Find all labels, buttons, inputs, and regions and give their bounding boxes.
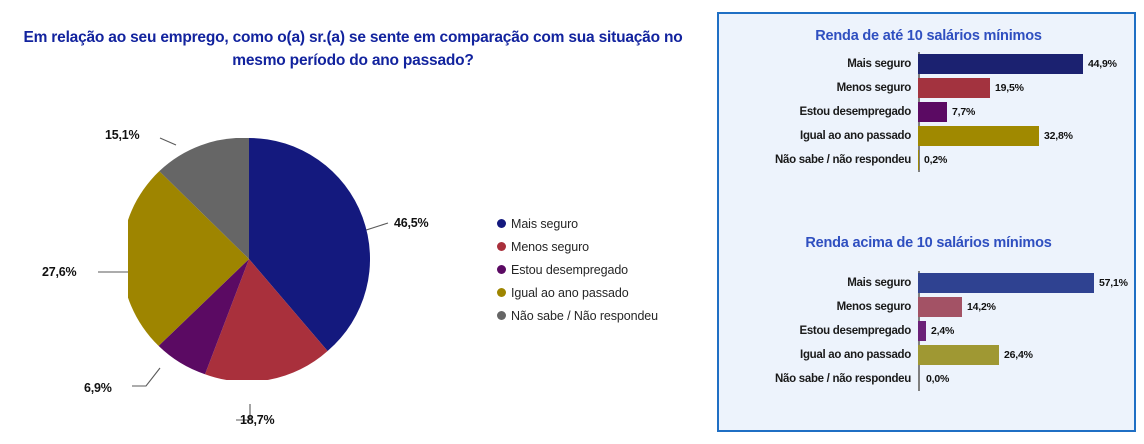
bar-value-label: 14,2% xyxy=(967,301,996,313)
bar-area: 57,1% xyxy=(918,271,1138,295)
legend-item: Estou desempregado xyxy=(497,258,658,281)
bar-category-label: Menos seguro xyxy=(719,301,918,313)
bar-chart-acima-10-salarios: Renda acima de 10 salários mínimos Mais … xyxy=(719,235,1138,391)
bar-area: 44,9% xyxy=(918,52,1138,76)
pie-label-menos-seguro: 18,7% xyxy=(240,413,274,427)
bar-row: Igual ao ano passado 32,8% xyxy=(719,124,1138,148)
bar-row: Igual ao ano passado 26,4% xyxy=(719,343,1138,367)
chart-title: Renda acima de 10 salários mínimos xyxy=(719,235,1138,251)
pie-chart-panel: Em relação ao seu emprego, como o(a) sr.… xyxy=(0,0,706,444)
bar-row: Não sabe / não respondeu 0,0% xyxy=(719,367,1138,391)
bar-value-label: 7,7% xyxy=(952,106,975,118)
bar-category-label: Menos seguro xyxy=(719,82,918,94)
bar-row: Menos seguro 14,2% xyxy=(719,295,1138,319)
legend-item: Igual ao ano passado xyxy=(497,281,658,304)
bar-value-label: 44,9% xyxy=(1088,58,1117,70)
bar xyxy=(918,78,990,98)
legend-label: Mais seguro xyxy=(511,217,578,231)
legend-item: Menos seguro xyxy=(497,235,658,258)
legend-dot-icon xyxy=(497,311,506,320)
bar-category-label: Igual ao ano passado xyxy=(719,349,918,361)
bar xyxy=(918,126,1039,146)
bar-row: Mais seguro 57,1% xyxy=(719,271,1138,295)
pie-label-estou-desempregado: 6,9% xyxy=(84,381,112,395)
legend-item: Não sabe / Não respondeu xyxy=(497,304,658,327)
bar-row: Menos seguro 19,5% xyxy=(719,76,1138,100)
bar-rows: Mais seguro 57,1% Menos seguro 14,2% Est… xyxy=(719,271,1138,391)
bar-row: Mais seguro 44,9% xyxy=(719,52,1138,76)
bar-area: 0,0% xyxy=(918,367,1138,391)
bar-value-label: 0,2% xyxy=(924,154,947,166)
bar-value-label: 0,0% xyxy=(926,373,949,385)
bar-value-label: 26,4% xyxy=(1004,349,1033,361)
bar-value-label: 32,8% xyxy=(1044,130,1073,142)
legend-item: Mais seguro xyxy=(497,212,658,235)
slide-root: Em relação ao seu emprego, como o(a) sr.… xyxy=(0,0,1144,444)
bar-chart-ate-10-salarios: Renda de até 10 salários mínimos Mais se… xyxy=(719,28,1138,172)
pie-chart xyxy=(128,138,370,380)
bar-row: Estou desempregado 2,4% xyxy=(719,319,1138,343)
bar-category-label: Estou desempregado xyxy=(719,106,918,118)
pie-label-mais-seguro: 46,5% xyxy=(394,216,428,230)
bar-category-label: Igual ao ano passado xyxy=(719,130,918,142)
bar-row: Não sabe / não respondeu 0,2% xyxy=(719,148,1138,172)
bar-area: 2,4% xyxy=(918,319,1138,343)
bar xyxy=(918,54,1083,74)
bar-category-label: Mais seguro xyxy=(719,58,918,70)
bar-category-label: Estou desempregado xyxy=(719,325,918,337)
income-breakdown-panel: Renda de até 10 salários mínimos Mais se… xyxy=(717,12,1136,432)
legend-label: Estou desempregado xyxy=(511,263,628,277)
bar-value-label: 2,4% xyxy=(931,325,954,337)
legend-dot-icon xyxy=(497,265,506,274)
bar xyxy=(918,321,926,341)
bar xyxy=(918,150,919,170)
bar-value-label: 57,1% xyxy=(1099,277,1128,289)
legend-label: Não sabe / Não respondeu xyxy=(511,309,658,323)
bar-category-label: Não sabe / não respondeu xyxy=(719,154,918,166)
bar xyxy=(918,345,999,365)
bar-value-label: 19,5% xyxy=(995,82,1024,94)
pie-label-nao-sabe: 15,1% xyxy=(105,128,139,142)
pie-svg xyxy=(128,138,370,380)
bar-rows: Mais seguro 44,9% Menos seguro 19,5% Est… xyxy=(719,52,1138,172)
bar xyxy=(918,273,1094,293)
bar-area: 14,2% xyxy=(918,295,1138,319)
pie-label-igual-ao-ano-passado: 27,6% xyxy=(42,265,76,279)
bar-area: 32,8% xyxy=(918,124,1138,148)
legend-dot-icon xyxy=(497,219,506,228)
bar-area: 0,2% xyxy=(918,148,1138,172)
bar-category-label: Mais seguro xyxy=(719,277,918,289)
legend-label: Menos seguro xyxy=(511,240,589,254)
bar-area: 7,7% xyxy=(918,100,1138,124)
pie-legend: Mais seguro Menos seguro Estou desempreg… xyxy=(497,212,658,327)
legend-label: Igual ao ano passado xyxy=(511,286,629,300)
legend-dot-icon xyxy=(497,242,506,251)
bar-area: 26,4% xyxy=(918,343,1138,367)
chart-title: Renda de até 10 salários mínimos xyxy=(719,28,1138,44)
bar-category-label: Não sabe / não respondeu xyxy=(719,373,918,385)
legend-dot-icon xyxy=(497,288,506,297)
bar-area: 19,5% xyxy=(918,76,1138,100)
bar xyxy=(918,102,947,122)
bar xyxy=(918,297,962,317)
bar-row: Estou desempregado 7,7% xyxy=(719,100,1138,124)
